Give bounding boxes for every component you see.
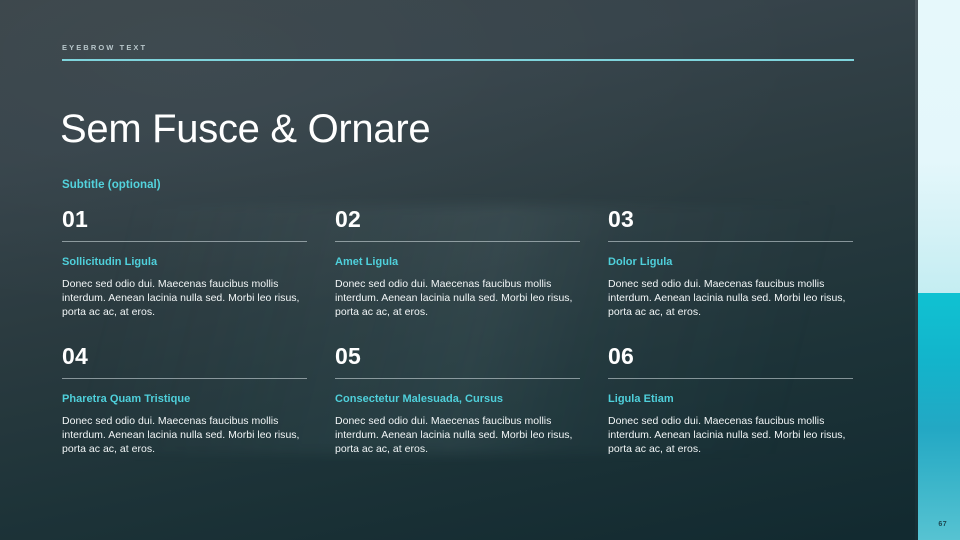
accent-divider-rule <box>62 59 854 61</box>
page-title: Sem Fusce & Ornare <box>60 105 430 153</box>
band-top-light <box>918 0 960 293</box>
item-heading: Ligula Etiam <box>608 392 853 406</box>
item-body-text: Donec sed odio dui. Maecenas faucibus mo… <box>62 414 302 457</box>
slide-content: EYEBROW TEXT Sem Fusce & Ornare Subtitle… <box>62 0 854 540</box>
presentation-slide: EYEBROW TEXT Sem Fusce & Ornare Subtitle… <box>0 0 960 540</box>
page-number: 67 <box>938 521 947 528</box>
list-item: 01 Sollicitudin Ligula Donec sed odio du… <box>62 205 307 320</box>
item-number: 01 <box>62 205 307 234</box>
list-item: 05 Consectetur Malesuada, Cursus Donec s… <box>335 342 580 457</box>
item-body-text: Donec sed odio dui. Maecenas faucibus mo… <box>335 277 575 320</box>
item-number: 02 <box>335 205 580 234</box>
item-heading: Consectetur Malesuada, Cursus <box>335 392 580 406</box>
item-divider-rule <box>335 241 580 242</box>
list-item: 04 Pharetra Quam Tristique Donec sed odi… <box>62 342 307 457</box>
item-number: 04 <box>62 342 307 371</box>
item-body-text: Donec sed odio dui. Maecenas faucibus mo… <box>608 414 848 457</box>
list-item: 06 Ligula Etiam Donec sed odio dui. Maec… <box>608 342 853 457</box>
slide-subtitle: Subtitle (optional) <box>62 179 161 191</box>
band-bottom-cyan <box>918 293 960 540</box>
list-item: 03 Dolor Ligula Donec sed odio dui. Maec… <box>608 205 853 320</box>
item-number: 06 <box>608 342 853 371</box>
item-heading: Pharetra Quam Tristique <box>62 392 307 406</box>
item-divider-rule <box>62 378 307 379</box>
numbered-items-grid: 01 Sollicitudin Ligula Donec sed odio du… <box>62 205 854 456</box>
right-accent-band <box>918 0 960 540</box>
item-heading: Sollicitudin Ligula <box>62 255 307 269</box>
item-divider-rule <box>62 241 307 242</box>
item-body-text: Donec sed odio dui. Maecenas faucibus mo… <box>335 414 575 457</box>
eyebrow-text: EYEBROW TEXT <box>62 43 147 52</box>
item-divider-rule <box>608 241 853 242</box>
item-divider-rule <box>335 378 580 379</box>
item-heading: Amet Ligula <box>335 255 580 269</box>
item-number: 05 <box>335 342 580 371</box>
item-heading: Dolor Ligula <box>608 255 853 269</box>
item-body-text: Donec sed odio dui. Maecenas faucibus mo… <box>608 277 848 320</box>
item-number: 03 <box>608 205 853 234</box>
item-body-text: Donec sed odio dui. Maecenas faucibus mo… <box>62 277 302 320</box>
item-divider-rule <box>608 378 853 379</box>
list-item: 02 Amet Ligula Donec sed odio dui. Maece… <box>335 205 580 320</box>
